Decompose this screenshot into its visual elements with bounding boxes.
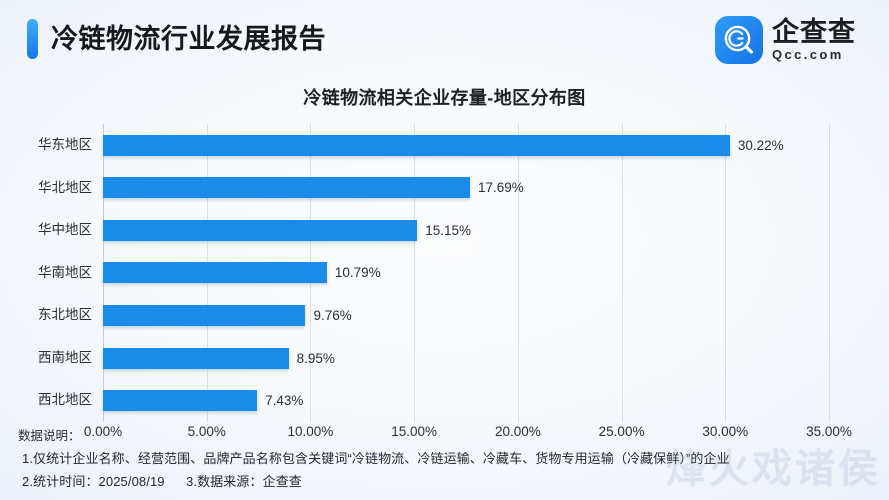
y-axis-label: 华中地区: [0, 209, 92, 252]
x-axis-tick-label: 15.00%: [391, 424, 437, 439]
report-page: 冷链物流行业发展报告 企查查 Qcc.com 冷链物流相关企业存量-地区分布图 …: [0, 0, 889, 500]
footnote-data-source: 3.数据来源：企查查: [186, 474, 302, 489]
notes-label: 数据说明：: [18, 425, 81, 444]
bar-row[interactable]: 8.95%: [103, 337, 335, 380]
x-axis-tick-label: 0.00%: [84, 424, 122, 439]
y-axis-label: 华东地区: [0, 124, 92, 167]
bar-value-label: 7.43%: [265, 393, 303, 408]
chart-title: 冷链物流相关企业存量-地区分布图: [0, 84, 889, 110]
title-accent-bar: [27, 19, 38, 59]
logo-text: 企查查 Qcc.com: [772, 16, 856, 64]
x-axis-tick-label: 10.00%: [288, 424, 334, 439]
bar-row[interactable]: 7.43%: [103, 379, 303, 422]
x-axis-tick-label: 35.00%: [806, 424, 852, 439]
bar[interactable]: [103, 262, 327, 283]
page-title: 冷链物流行业发展报告: [51, 18, 326, 60]
bar-row[interactable]: 9.76%: [103, 294, 352, 337]
bar[interactable]: [103, 390, 257, 411]
x-axis-tick-label: 5.00%: [188, 424, 226, 439]
x-axis-tick-label: 20.00%: [495, 424, 541, 439]
x-axis-tick-label: 30.00%: [702, 424, 748, 439]
gridline: [725, 124, 726, 422]
bar-value-label: 17.69%: [478, 180, 524, 195]
gridline: [829, 124, 830, 422]
bar-value-label: 9.76%: [313, 308, 351, 323]
gridline: [622, 124, 623, 422]
bar[interactable]: [103, 348, 289, 369]
bar-value-label: 8.95%: [297, 351, 335, 366]
footnote-stat-time: 2.统计时间：2025/08/19: [22, 474, 165, 489]
footnote-line-2: 2.统计时间：2025/08/19 3.数据来源：企查查: [22, 471, 302, 490]
bar-row[interactable]: 15.15%: [103, 209, 471, 252]
logo-name-en: Qcc.com: [772, 47, 856, 62]
page-header: 冷链物流行业发展报告 企查查 Qcc.com: [0, 0, 889, 78]
bar-row[interactable]: 10.79%: [103, 252, 381, 295]
brand-logo[interactable]: 企查查 Qcc.com: [715, 16, 856, 64]
bar-row[interactable]: 30.22%: [103, 124, 784, 167]
y-axis-label: 东北地区: [0, 294, 92, 337]
footnote-line-1: 1.仅统计企业名称、经营范围、品牌产品名称包含关键词“冷链物流、冷链运输、冷藏车…: [22, 448, 730, 467]
x-axis-tick-label: 25.00%: [599, 424, 645, 439]
y-axis-label: 华南地区: [0, 252, 92, 295]
y-axis-label: 西北地区: [0, 379, 92, 422]
bar[interactable]: [103, 135, 730, 156]
plot-area: 30.22%17.69%15.15%10.79%9.76%8.95%7.43%: [103, 124, 829, 422]
bar[interactable]: [103, 220, 417, 241]
bar-row[interactable]: 17.69%: [103, 167, 524, 210]
y-axis-label: 华北地区: [0, 167, 92, 210]
bar[interactable]: [103, 177, 470, 198]
qcc-logo-icon: [715, 16, 763, 64]
bar-value-label: 15.15%: [425, 223, 471, 238]
region-distribution-bar-chart: 华东地区华北地区华中地区华南地区东北地区西南地区西北地区 30.22%17.69…: [0, 118, 889, 428]
bar[interactable]: [103, 305, 305, 326]
bar-value-label: 10.79%: [335, 265, 381, 280]
bar-value-label: 30.22%: [738, 138, 784, 153]
logo-name-cn: 企查查: [772, 18, 856, 47]
y-axis-label: 西南地区: [0, 337, 92, 380]
